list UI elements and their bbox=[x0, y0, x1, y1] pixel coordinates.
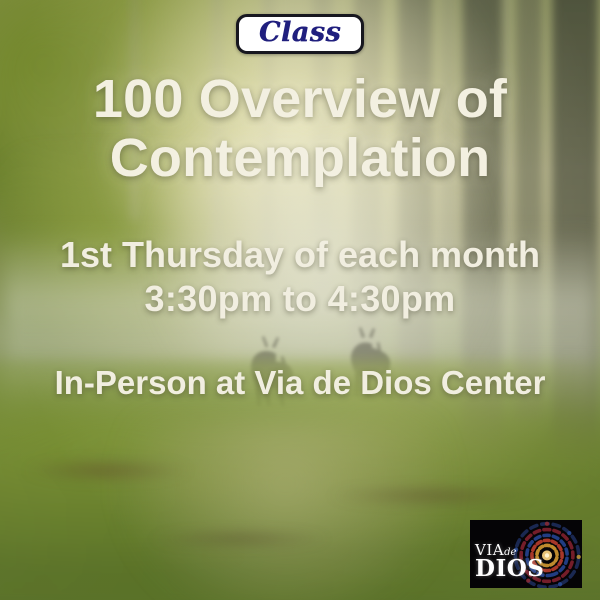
schedule-time: 3:30pm to 4:30pm bbox=[60, 277, 540, 321]
class-poster: Class 100 Overview of Contemplation 1st … bbox=[0, 0, 600, 600]
location-text: In-Person at Via de Dios Center bbox=[55, 363, 546, 403]
page-title-line-1: 100 Overview of bbox=[30, 70, 570, 128]
class-badge-label: Class bbox=[259, 19, 341, 47]
class-badge: Class bbox=[236, 14, 364, 54]
page-title-line-2: Contemplation bbox=[30, 129, 570, 187]
schedule-frequency: 1st Thursday of each month bbox=[60, 233, 540, 277]
via-de-dios-logo: VIAde DIOS bbox=[470, 520, 582, 588]
logo-dios: DIOS bbox=[475, 557, 544, 580]
poster-content: Class 100 Overview of Contemplation 1st … bbox=[0, 0, 600, 600]
logo-wordmark: VIAde DIOS bbox=[475, 542, 544, 580]
schedule-block: 1st Thursday of each month 3:30pm to 4:3… bbox=[60, 233, 540, 321]
page-title: 100 Overview of Contemplation bbox=[30, 70, 570, 187]
